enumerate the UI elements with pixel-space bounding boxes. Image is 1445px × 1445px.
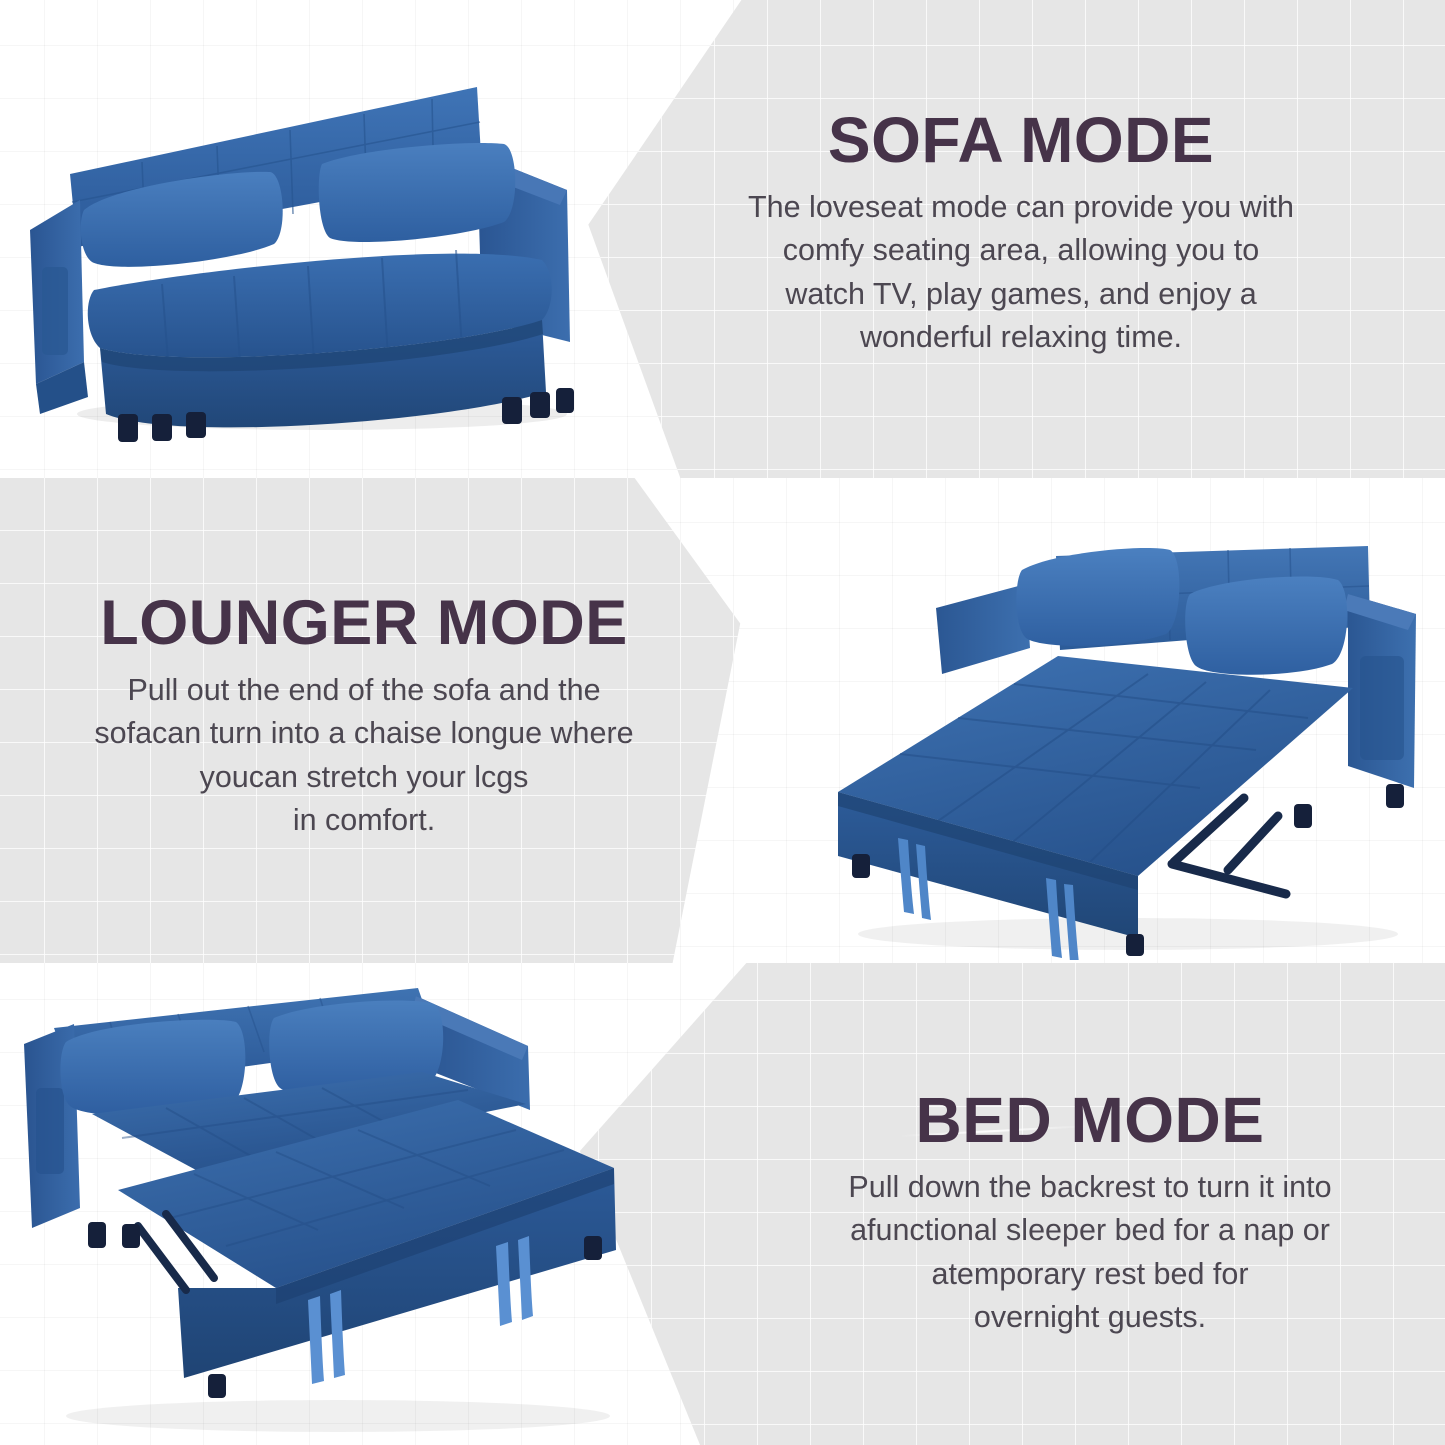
bed-desc-line-2: afunctional sleeper bed for a nap or bbox=[850, 1213, 1330, 1247]
sofa-desc-line-3: watch TV, play games, and enjoy a bbox=[785, 277, 1256, 311]
lounger-desc-line-3: youcan stretch your lcgs bbox=[200, 760, 529, 794]
sofa-mode-description: The loveseat mode can provide you with c… bbox=[626, 186, 1416, 359]
sofa-desc-line-1: The loveseat mode can provide you with bbox=[748, 190, 1294, 224]
lounger-mode-illustration bbox=[808, 498, 1433, 960]
sofa-desc-line-4: wonderful relaxing time. bbox=[860, 320, 1182, 354]
lounger-mode-text-block: LOUNGER MODE Pull out the end of the sof… bbox=[14, 592, 714, 842]
lounger-desc-line-2: sofacan turn into a chaise longue where bbox=[94, 716, 633, 750]
sofa-mode-heading: SOFA MODE bbox=[626, 108, 1416, 172]
sofa-mode-illustration bbox=[22, 62, 602, 442]
lounger-desc-line-4: in comfort. bbox=[293, 803, 435, 837]
sofa-desc-line-2: comfy seating area, allowing you to bbox=[783, 233, 1259, 267]
bed-desc-line-4: overnight guests. bbox=[974, 1300, 1206, 1334]
lounger-mode-description: Pull out the end of the sofa and the sof… bbox=[14, 669, 714, 842]
sofa-mode-text-block: SOFA MODE The loveseat mode can provide … bbox=[626, 108, 1416, 359]
bed-mode-illustration bbox=[18, 978, 643, 1440]
lounger-desc-line-1: Pull out the end of the sofa and the bbox=[127, 673, 600, 707]
product-infographic: SOFA MODE The loveseat mode can provide … bbox=[0, 0, 1445, 1445]
bed-mode-description: Pull down the backrest to turn it into a… bbox=[740, 1166, 1440, 1339]
bed-mode-heading: BED MODE bbox=[740, 1088, 1440, 1152]
bed-desc-line-3: atemporary rest bed for bbox=[931, 1257, 1248, 1291]
bed-mode-text-block: BED MODE Pull down the backrest to turn … bbox=[740, 1088, 1440, 1339]
bed-desc-line-1: Pull down the backrest to turn it into bbox=[848, 1170, 1331, 1204]
lounger-mode-heading: LOUNGER MODE bbox=[14, 592, 714, 655]
